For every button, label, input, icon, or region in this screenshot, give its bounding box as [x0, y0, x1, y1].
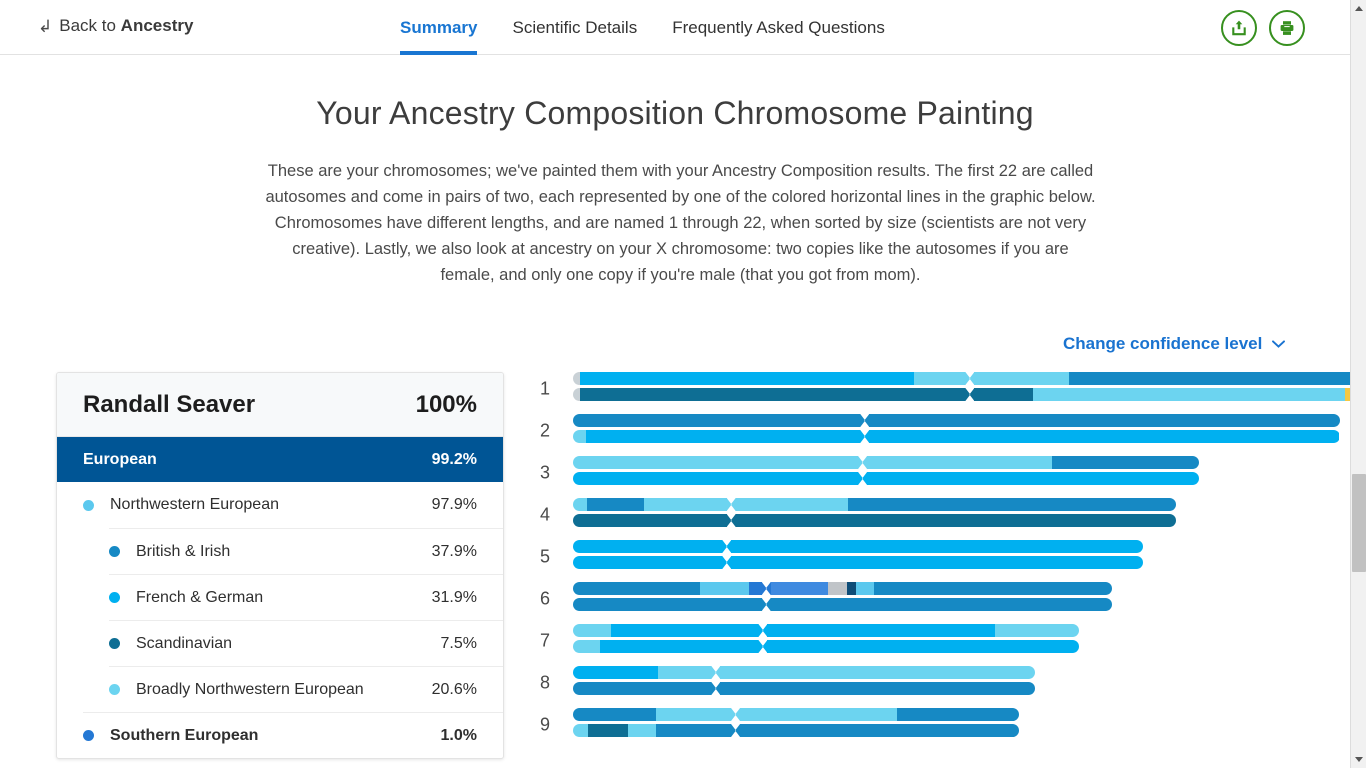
- chromosome-number-label: 9: [528, 715, 550, 736]
- back-to-ancestry-link[interactable]: ↲ Back to Ancestry: [38, 16, 193, 36]
- chromosome-segment[interactable]: [818, 708, 897, 721]
- chromosome-number-label: 4: [528, 505, 550, 526]
- chromosome-segment[interactable]: [573, 640, 600, 653]
- tab-scientific-details[interactable]: Scientific Details: [512, 0, 637, 55]
- share-button[interactable]: [1221, 10, 1257, 46]
- tab-frequently-asked-questions[interactable]: Frequently Asked Questions: [672, 0, 885, 55]
- chromosome-number-label: 8: [528, 673, 550, 694]
- chromosome-strand[interactable]: [573, 414, 1340, 427]
- chromosome-segment[interactable]: [848, 498, 1177, 511]
- profile-name: Randall Seaver: [83, 391, 255, 419]
- chromosome-strand[interactable]: [573, 582, 1112, 595]
- chromosome-segment[interactable]: [644, 498, 848, 511]
- chromosome-segment[interactable]: [573, 624, 611, 637]
- chromosome-strand[interactable]: [573, 624, 1079, 637]
- chromosome-row: 5: [520, 536, 1330, 578]
- chromosome-row: 7: [520, 620, 1330, 662]
- chromosome-strand[interactable]: [573, 682, 1035, 695]
- chromosome-segment[interactable]: [611, 624, 994, 637]
- chromosome-painting-chart: 123456789: [520, 368, 1330, 746]
- ancestry-row-label: Northwestern European: [110, 496, 432, 514]
- ancestry-row-label: Scandinavian: [136, 635, 441, 653]
- chromosome-segment[interactable]: [897, 708, 1019, 721]
- chromosome-strands: [573, 540, 1143, 572]
- chromosome-strands: [573, 498, 1176, 530]
- chromosome-segment[interactable]: [1052, 456, 1200, 469]
- ancestry-row[interactable]: Broadly Northwestern European20.6%: [109, 666, 503, 712]
- print-icon: [1278, 19, 1296, 37]
- chromosome-segment[interactable]: [573, 472, 1199, 485]
- scrollbar-thumb[interactable]: [1352, 474, 1366, 572]
- chromosome-row: 3: [520, 452, 1330, 494]
- share-icon: [1230, 19, 1248, 37]
- page-description: These are your chromosomes; we've painte…: [263, 158, 1098, 288]
- change-confidence-level-control[interactable]: Change confidence level: [1063, 334, 1285, 354]
- back-arrow-icon: ↲: [38, 18, 52, 35]
- chromosome-strand[interactable]: [573, 640, 1079, 653]
- ancestry-color-dot: [109, 638, 120, 649]
- ancestry-row-label: Southern European: [110, 727, 441, 745]
- chromosome-number-label: 1: [528, 379, 550, 400]
- ancestry-row[interactable]: Southern European1.0%: [83, 712, 503, 758]
- ancestry-color-dot: [109, 546, 120, 557]
- ancestry-row-percent: 37.9%: [432, 543, 477, 561]
- ancestry-row[interactable]: Scandinavian7.5%: [109, 620, 503, 666]
- chromosome-strand[interactable]: [573, 540, 1143, 553]
- chevron-down-icon: [1272, 340, 1285, 348]
- chromosome-strand[interactable]: [573, 666, 1035, 679]
- chromosome-segment[interactable]: [587, 498, 644, 511]
- scroll-down-arrow-icon[interactable]: [1351, 751, 1366, 768]
- ancestry-group-european-label: European: [83, 451, 157, 469]
- chromosome-strand[interactable]: [573, 514, 1176, 527]
- chromosome-strand[interactable]: [573, 498, 1176, 511]
- chromosome-strand[interactable]: [573, 456, 1199, 469]
- ancestry-color-dot: [109, 592, 120, 603]
- chromosome-segment[interactable]: [573, 682, 1035, 695]
- chromosome-strands: [573, 666, 1035, 698]
- chromosome-segment[interactable]: [580, 388, 970, 401]
- nav-tabs: Summary Scientific Details Frequently As…: [400, 0, 920, 55]
- tab-summary[interactable]: Summary: [400, 0, 477, 55]
- chromosome-strand[interactable]: [573, 430, 1340, 443]
- chromosome-segment[interactable]: [771, 582, 828, 595]
- chromosome-strand[interactable]: [573, 556, 1143, 569]
- ancestry-color-dot: [83, 730, 94, 741]
- chromosome-number-label: 2: [528, 421, 550, 442]
- chromosome-segment[interactable]: [580, 372, 914, 385]
- tab-summary-label: Summary: [400, 18, 477, 38]
- chromosome-segment[interactable]: [847, 582, 856, 595]
- ancestry-row-percent: 7.5%: [441, 635, 477, 653]
- chromosome-segment[interactable]: [914, 372, 970, 385]
- top-navigation-bar: ↲ Back to Ancestry Summary Scientific De…: [0, 0, 1350, 55]
- ancestry-row-percent: 97.9%: [432, 496, 477, 514]
- chromosome-segment[interactable]: [995, 624, 1079, 637]
- back-link-prefix: Back to: [59, 16, 120, 35]
- chromosome-row: 9: [520, 704, 1330, 746]
- chromosome-segment[interactable]: [573, 598, 1112, 611]
- chromosome-segment[interactable]: [573, 708, 656, 721]
- chromosome-row: 2: [520, 410, 1330, 452]
- chromosome-segment[interactable]: [573, 414, 1340, 427]
- profile-total-percent: 100%: [416, 391, 477, 419]
- chromosome-strands: [573, 708, 1019, 740]
- ancestry-group-european-percent: 99.2%: [432, 451, 477, 469]
- chromosome-strands: [573, 372, 1359, 404]
- panel-header: Randall Seaver 100%: [57, 373, 503, 437]
- chromosome-segment[interactable]: [828, 582, 847, 595]
- chromosome-number-label: 5: [528, 547, 550, 568]
- tab-scientific-details-label: Scientific Details: [512, 18, 637, 38]
- vertical-scrollbar[interactable]: [1350, 0, 1366, 768]
- nav-action-icons: [1221, 10, 1305, 46]
- ancestry-group-european[interactable]: European 99.2%: [57, 437, 503, 482]
- chromosome-number-label: 6: [528, 589, 550, 610]
- chromosome-strands: [573, 456, 1199, 488]
- chromosome-row: 4: [520, 494, 1330, 536]
- scroll-up-arrow-icon[interactable]: [1351, 0, 1366, 17]
- ancestry-row[interactable]: British & Irish37.9%: [109, 528, 503, 574]
- chromosome-number-label: 3: [528, 463, 550, 484]
- chromosome-segment[interactable]: [588, 724, 627, 737]
- chromosome-row: 6: [520, 578, 1330, 620]
- page-title: Your Ancestry Composition Chromosome Pai…: [0, 95, 1350, 132]
- ancestry-row-list: Northwestern European97.9%British & Iris…: [57, 482, 503, 758]
- chromosome-segment[interactable]: [573, 556, 1143, 569]
- chromosome-strand[interactable]: [573, 388, 1359, 401]
- page-root: ↲ Back to Ancestry Summary Scientific De…: [0, 0, 1366, 768]
- ancestry-row-label: British & Irish: [136, 543, 432, 561]
- chromosome-segment[interactable]: [573, 540, 1143, 553]
- chromosome-strands: [573, 624, 1079, 656]
- chromosome-segment[interactable]: [969, 388, 1033, 401]
- chromosome-row: 8: [520, 662, 1330, 704]
- back-link-brand: Ancestry: [121, 16, 194, 35]
- chromosome-strand[interactable]: [573, 708, 1019, 721]
- chromosome-strand[interactable]: [573, 472, 1199, 485]
- ancestry-color-dot: [109, 684, 120, 695]
- back-link-label: Back to Ancestry: [59, 16, 193, 36]
- ancestry-color-dot: [83, 500, 94, 511]
- ancestry-row-percent: 20.6%: [432, 681, 477, 699]
- ancestry-row[interactable]: French & German31.9%: [109, 574, 503, 620]
- ancestry-row-label: Broadly Northwestern European: [136, 681, 432, 699]
- chromosome-segment[interactable]: [573, 582, 700, 595]
- chromosome-segment[interactable]: [573, 498, 587, 511]
- change-confidence-level-label: Change confidence level: [1063, 334, 1262, 354]
- chromosome-segment[interactable]: [586, 430, 1339, 443]
- chromosome-segment[interactable]: [656, 724, 1018, 737]
- chromosome-segment[interactable]: [573, 666, 658, 679]
- chromosome-row: 1: [520, 368, 1330, 410]
- tab-faq-label: Frequently Asked Questions: [672, 18, 885, 38]
- chromosome-segment[interactable]: [856, 582, 875, 595]
- chromosome-number-label: 7: [528, 631, 550, 652]
- ancestry-row[interactable]: Northwestern European97.9%: [83, 482, 503, 528]
- chromosome-segment[interactable]: [1033, 388, 1345, 401]
- ancestry-row-percent: 1.0%: [441, 727, 477, 745]
- chromosome-segment[interactable]: [573, 514, 1176, 527]
- chromosome-segment[interactable]: [700, 582, 749, 595]
- ancestry-breakdown-panel: Randall Seaver 100% European 99.2% North…: [56, 372, 504, 759]
- chromosome-segment[interactable]: [874, 582, 1112, 595]
- print-button[interactable]: [1269, 10, 1305, 46]
- chromosome-segment[interactable]: [1069, 372, 1359, 385]
- chromosome-segment[interactable]: [573, 456, 1052, 469]
- chromosome-segment[interactable]: [573, 430, 586, 443]
- chromosome-strand[interactable]: [573, 724, 1019, 737]
- chromosome-strand[interactable]: [573, 598, 1112, 611]
- chromosome-strands: [573, 582, 1112, 614]
- chromosome-segment[interactable]: [600, 640, 1079, 653]
- chromosome-segment[interactable]: [573, 724, 588, 737]
- chromosome-strands: [573, 414, 1340, 446]
- ancestry-row-percent: 31.9%: [432, 589, 477, 607]
- chromosome-strand[interactable]: [573, 372, 1359, 385]
- chromosome-segment[interactable]: [969, 372, 1069, 385]
- chromosome-segment[interactable]: [628, 724, 656, 737]
- ancestry-row-label: French & German: [136, 589, 432, 607]
